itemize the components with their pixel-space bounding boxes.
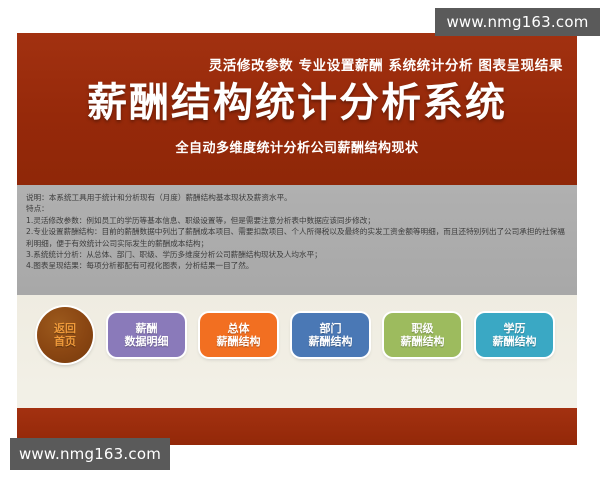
nav-button-education-structure[interactable]: 学历 薪酬结构 [476, 313, 553, 357]
description-line-intro: 说明：本系统工具用于统计和分析现有（月度）薪酬结构基本现状及薪资水平。 [26, 192, 568, 203]
nav-button-overall-structure-line1: 总体 [228, 322, 250, 335]
description-line-point-3: 3.系统统计分析：从总体、部门、职级、学历多维度分析公司薪酬结构现状及人均水平； [26, 249, 568, 260]
return-home-label-line2: 首页 [54, 335, 76, 348]
return-home-label-line1: 返回 [54, 322, 76, 335]
nav-button-department-structure-line2: 薪酬结构 [309, 335, 353, 348]
hero-tagline: 灵活修改参数 专业设置薪酬 系统统计分析 图表呈现结果 [17, 54, 563, 74]
return-home-button[interactable]: 返回 首页 [37, 307, 93, 363]
navigation-button-row: 返回 首页 薪酬 数据明细 总体 薪酬结构 部门 薪酬结构 职级 薪酬结构 学历 [37, 307, 553, 363]
application-frame: 灵活修改参数 专业设置薪酬 系统统计分析 图表呈现结果 薪酬结构统计分析系统 全… [17, 33, 577, 445]
nav-button-overall-structure-line2: 薪酬结构 [217, 335, 261, 348]
description-line-point-2: 2.专业设置薪酬结构：目前的薪酬数据中列出了薪酬成本项目、需要扣款项目、个人所得… [26, 226, 568, 249]
nav-button-department-structure-line1: 部门 [320, 322, 342, 335]
nav-button-salary-detail-line1: 薪酬 [136, 322, 158, 335]
nav-button-salary-detail-line2: 数据明细 [125, 335, 169, 348]
nav-button-rank-structure-line1: 职级 [412, 322, 434, 335]
nav-button-overall-structure[interactable]: 总体 薪酬结构 [200, 313, 277, 357]
description-panel: 说明：本系统工具用于统计和分析现有（月度）薪酬结构基本现状及薪资水平。 特点： … [17, 185, 577, 295]
hero-banner: 灵活修改参数 专业设置薪酬 系统统计分析 图表呈现结果 薪酬结构统计分析系统 全… [17, 33, 577, 185]
watermark-bottom: www.nmg163.com [10, 438, 170, 470]
nav-button-department-structure[interactable]: 部门 薪酬结构 [292, 313, 369, 357]
description-line-point-1: 1.灵活修改参数：例如员工的学历等基本信息、职级设置等，但是需要注意分析表中数据… [26, 215, 568, 226]
page-title: 薪酬结构统计分析系统 [17, 83, 577, 123]
nav-button-salary-detail[interactable]: 薪酬 数据明细 [108, 313, 185, 357]
nav-button-rank-structure-line2: 薪酬结构 [401, 335, 445, 348]
nav-button-education-structure-line2: 薪酬结构 [493, 335, 537, 348]
nav-button-education-structure-line1: 学历 [504, 322, 526, 335]
description-line-features-label: 特点： [26, 203, 568, 214]
nav-button-rank-structure[interactable]: 职级 薪酬结构 [384, 313, 461, 357]
watermark-top: www.nmg163.com [435, 8, 600, 36]
hero-subtitle: 全自动多维度统计分析公司薪酬结构现状 [17, 137, 577, 156]
description-line-point-4: 4.图表呈现结果：每项分析都配有可视化图表，分析结果一目了然。 [26, 260, 568, 271]
